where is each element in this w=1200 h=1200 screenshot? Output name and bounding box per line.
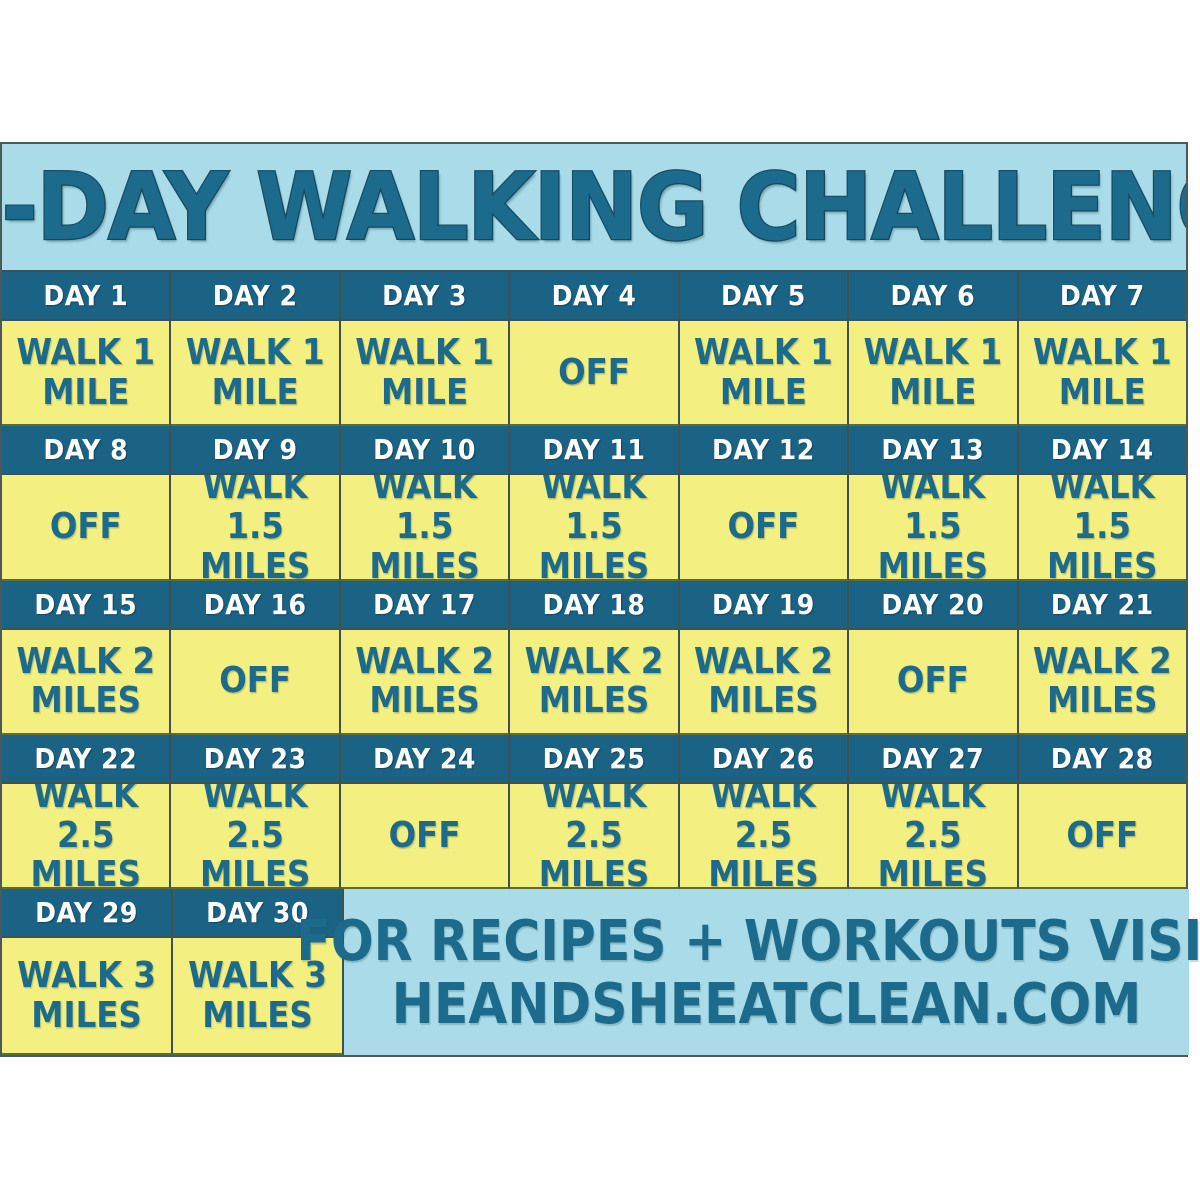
challenge-grid: DAY 1 DAY 2 DAY 3 DAY 4 DAY 5 DAY 6 DAY … bbox=[2, 272, 1186, 1055]
task-line: MILE bbox=[16, 373, 155, 413]
day-header-30: DAY 30 bbox=[173, 889, 344, 938]
task-line: OFF bbox=[728, 507, 800, 547]
task-cell-7: WALK 1MILE bbox=[1019, 321, 1186, 426]
task-cell-5: WALK 1MILE bbox=[680, 321, 849, 426]
task-line: WALK 2 bbox=[355, 642, 494, 682]
task-line: OFF bbox=[558, 353, 630, 393]
task-line: OFF bbox=[389, 816, 461, 856]
day-header-9: DAY 9 bbox=[171, 426, 340, 475]
task-cell-14: WALK 1.5MILES bbox=[1019, 475, 1186, 580]
task-line: WALK 2.5 bbox=[853, 784, 1012, 855]
task-cell-17: WALK 2MILES bbox=[341, 630, 510, 735]
task-line: WALK 3 bbox=[17, 956, 156, 996]
week-row-3: DAY 15 DAY 16 DAY 17 DAY 18 DAY 19 DAY 2… bbox=[2, 581, 1186, 735]
day-header-10: DAY 10 bbox=[341, 426, 510, 475]
task-line: OFF bbox=[219, 661, 291, 701]
task-line: MILES bbox=[175, 547, 334, 581]
task-cell-28: OFF bbox=[1019, 784, 1186, 889]
week-row-4: DAY 22 DAY 23 DAY 24 DAY 25 DAY 26 DAY 2… bbox=[2, 735, 1186, 889]
day-header-17: DAY 17 bbox=[341, 581, 510, 630]
task-line: MILES bbox=[694, 681, 833, 721]
task-line: MILES bbox=[6, 855, 165, 889]
day-header-22: DAY 22 bbox=[2, 735, 171, 784]
task-cell-29: WALK 3MILES bbox=[2, 938, 173, 1055]
task-line: OFF bbox=[50, 507, 122, 547]
task-cell-25: WALK 2.5MILES bbox=[510, 784, 679, 889]
task-cell-27: WALK 2.5MILES bbox=[849, 784, 1018, 889]
task-line: MILES bbox=[17, 996, 156, 1036]
day-header-7: DAY 7 bbox=[1019, 272, 1186, 321]
task-row-5: WALK 3MILES WALK 3MILES bbox=[2, 938, 1186, 1055]
day-header-row-3: DAY 15 DAY 16 DAY 17 DAY 18 DAY 19 DAY 2… bbox=[2, 581, 1186, 630]
day-header-19: DAY 19 bbox=[680, 581, 849, 630]
task-row-4: WALK 2.5MILES WALK 2.5MILES OFF WALK 2.5… bbox=[2, 784, 1186, 889]
task-line: WALK 2.5 bbox=[175, 784, 334, 855]
day-header-18: DAY 18 bbox=[510, 581, 679, 630]
task-row-3: WALK 2MILES OFF WALK 2MILES WALK 2MILES … bbox=[2, 630, 1186, 735]
day-header-row-1: DAY 1 DAY 2 DAY 3 DAY 4 DAY 5 DAY 6 DAY … bbox=[2, 272, 1186, 321]
title-banner: 30-DAY WALKING CHALLENGE bbox=[2, 144, 1186, 272]
task-line: MILES bbox=[514, 547, 673, 581]
task-line: WALK 2 bbox=[525, 642, 664, 682]
day-header-26: DAY 26 bbox=[680, 735, 849, 784]
task-line: WALK 1 bbox=[355, 333, 494, 373]
day-header-13: DAY 13 bbox=[849, 426, 1018, 475]
task-cell-11: WALK 1.5MILES bbox=[510, 475, 679, 580]
task-line: MILES bbox=[853, 547, 1012, 581]
task-row-2: OFF WALK 1.5MILES WALK 1.5MILES WALK 1.5… bbox=[2, 475, 1186, 580]
task-line: MILES bbox=[1023, 547, 1182, 581]
task-line: MILE bbox=[863, 373, 1002, 413]
day-header-16: DAY 16 bbox=[171, 581, 340, 630]
task-line: WALK 1.5 bbox=[853, 475, 1012, 546]
task-line: MILES bbox=[16, 681, 155, 721]
task-cell-2: WALK 1MILE bbox=[171, 321, 340, 426]
task-line: MILE bbox=[186, 373, 325, 413]
task-cell-8: OFF bbox=[2, 475, 171, 580]
task-line: WALK 1 bbox=[16, 333, 155, 373]
task-line: MILE bbox=[694, 373, 833, 413]
task-cell-3: WALK 1MILE bbox=[341, 321, 510, 426]
task-line: MILES bbox=[853, 855, 1012, 889]
task-row-1: WALK 1MILE WALK 1MILE WALK 1MILE OFF WAL… bbox=[2, 321, 1186, 426]
day-header-28: DAY 28 bbox=[1019, 735, 1186, 784]
task-line: MILES bbox=[355, 681, 494, 721]
task-line: WALK 1.5 bbox=[175, 475, 334, 546]
task-line: WALK 1 bbox=[1033, 333, 1172, 373]
task-line: WALK 2.5 bbox=[684, 784, 843, 855]
task-cell-13: WALK 1.5MILES bbox=[849, 475, 1018, 580]
task-line: WALK 1 bbox=[186, 333, 325, 373]
task-line: WALK 2 bbox=[694, 642, 833, 682]
day-header-21: DAY 21 bbox=[1019, 581, 1186, 630]
day-header-5: DAY 5 bbox=[680, 272, 849, 321]
task-line: MILES bbox=[175, 855, 334, 889]
task-line: WALK 1 bbox=[863, 333, 1002, 373]
page-title: 30-DAY WALKING CHALLENGE bbox=[2, 161, 1186, 254]
task-cell-4: OFF bbox=[510, 321, 679, 426]
task-cell-12: OFF bbox=[680, 475, 849, 580]
task-line: MILE bbox=[355, 373, 494, 413]
task-line: MILE bbox=[1033, 373, 1172, 413]
task-cell-1: WALK 1MILE bbox=[2, 321, 171, 426]
task-line: WALK 1 bbox=[694, 333, 833, 373]
task-cell-6: WALK 1MILE bbox=[849, 321, 1018, 426]
day-header-4: DAY 4 bbox=[510, 272, 679, 321]
task-line: MILES bbox=[525, 681, 664, 721]
task-line: WALK 2.5 bbox=[514, 784, 673, 855]
task-cell-19: WALK 2MILES bbox=[680, 630, 849, 735]
task-cell-20: OFF bbox=[849, 630, 1018, 735]
day-header-23: DAY 23 bbox=[171, 735, 340, 784]
day-header-15: DAY 15 bbox=[2, 581, 171, 630]
task-cell-18: WALK 2MILES bbox=[510, 630, 679, 735]
task-cell-9: WALK 1.5MILES bbox=[171, 475, 340, 580]
task-line: WALK 3 bbox=[188, 956, 327, 996]
day-header-1: DAY 1 bbox=[2, 272, 171, 321]
task-line: MILES bbox=[188, 996, 327, 1036]
task-line: MILES bbox=[345, 547, 504, 581]
promo-area-bottom bbox=[344, 938, 1189, 1055]
day-header-24: DAY 24 bbox=[341, 735, 510, 784]
task-line: OFF bbox=[897, 661, 969, 701]
task-line: WALK 1.5 bbox=[345, 475, 504, 546]
task-cell-10: WALK 1.5MILES bbox=[341, 475, 510, 580]
task-cell-24: OFF bbox=[341, 784, 510, 889]
task-cell-23: WALK 2.5MILES bbox=[171, 784, 340, 889]
task-line: WALK 1.5 bbox=[514, 475, 673, 546]
task-cell-15: WALK 2MILES bbox=[2, 630, 171, 735]
day-header-12: DAY 12 bbox=[680, 426, 849, 475]
task-line: OFF bbox=[1066, 816, 1138, 856]
day-header-27: DAY 27 bbox=[849, 735, 1018, 784]
day-header-6: DAY 6 bbox=[849, 272, 1018, 321]
task-line: MILES bbox=[514, 855, 673, 889]
week-row-1: DAY 1 DAY 2 DAY 3 DAY 4 DAY 5 DAY 6 DAY … bbox=[2, 272, 1186, 426]
task-line: MILES bbox=[684, 855, 843, 889]
task-line: WALK 2 bbox=[1033, 642, 1172, 682]
day-header-11: DAY 11 bbox=[510, 426, 679, 475]
day-header-14: DAY 14 bbox=[1019, 426, 1186, 475]
day-header-2: DAY 2 bbox=[171, 272, 340, 321]
promo-area-top bbox=[344, 889, 1189, 938]
day-header-row-5: DAY 29 DAY 30 bbox=[2, 889, 1186, 938]
task-cell-26: WALK 2.5MILES bbox=[680, 784, 849, 889]
task-line: WALK 1.5 bbox=[1023, 475, 1182, 546]
day-header-row-2: DAY 8 DAY 9 DAY 10 DAY 11 DAY 12 DAY 13 … bbox=[2, 426, 1186, 475]
task-cell-30: WALK 3MILES bbox=[173, 938, 344, 1055]
day-header-25: DAY 25 bbox=[510, 735, 679, 784]
week-row-2: DAY 8 DAY 9 DAY 10 DAY 11 DAY 12 DAY 13 … bbox=[2, 426, 1186, 580]
day-header-row-4: DAY 22 DAY 23 DAY 24 DAY 25 DAY 26 DAY 2… bbox=[2, 735, 1186, 784]
day-header-3: DAY 3 bbox=[341, 272, 510, 321]
day-header-8: DAY 8 bbox=[2, 426, 171, 475]
week-row-5: DAY 29 DAY 30 WALK 3MILES WALK 3MILES bbox=[2, 889, 1186, 1055]
task-cell-16: OFF bbox=[171, 630, 340, 735]
task-cell-22: WALK 2.5MILES bbox=[2, 784, 171, 889]
task-line: MILES bbox=[1033, 681, 1172, 721]
task-line: WALK 2 bbox=[16, 642, 155, 682]
walking-challenge-poster: 30-DAY WALKING CHALLENGE DAY 1 DAY 2 DAY… bbox=[0, 142, 1188, 1057]
task-cell-21: WALK 2MILES bbox=[1019, 630, 1186, 735]
day-header-29: DAY 29 bbox=[2, 889, 173, 938]
day-header-20: DAY 20 bbox=[849, 581, 1018, 630]
task-line: WALK 2.5 bbox=[6, 784, 165, 855]
